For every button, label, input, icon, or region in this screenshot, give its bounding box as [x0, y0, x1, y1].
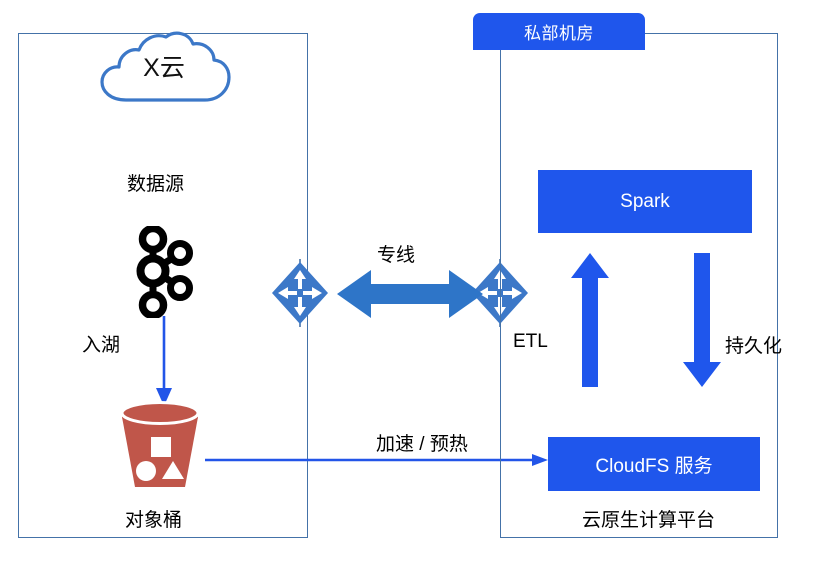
node-graph-icon: [133, 226, 195, 318]
accelerate-label: 加速 / 预热: [376, 429, 468, 456]
cloud-shape: X云: [96, 28, 232, 108]
etl-label: ETL: [513, 331, 548, 353]
trunk-double-arrow-icon: [337, 266, 483, 322]
router-icon-left: [269, 259, 331, 327]
etl-up-arrow-icon: [570, 253, 610, 387]
persist-down-arrow-icon: [682, 253, 722, 387]
datacenter-banner: 私部机房: [473, 13, 645, 50]
platform-label: 云原生计算平台: [582, 505, 715, 532]
ingest-label: 入湖: [82, 330, 120, 357]
persist-label: 持久化: [725, 331, 782, 358]
ingest-arrow-icon: [150, 316, 178, 408]
cloud-label: X云: [96, 28, 232, 108]
datasource-label: 数据源: [127, 169, 184, 196]
trunk-label: 专线: [377, 240, 415, 267]
bucket-label: 对象桶: [125, 505, 182, 532]
diagram-canvas: X云 数据源 入湖: [0, 0, 818, 564]
spark-box[interactable]: Spark: [538, 170, 752, 233]
object-bucket-icon: [115, 399, 205, 491]
cloudfs-box[interactable]: CloudFS 服务: [548, 437, 760, 491]
